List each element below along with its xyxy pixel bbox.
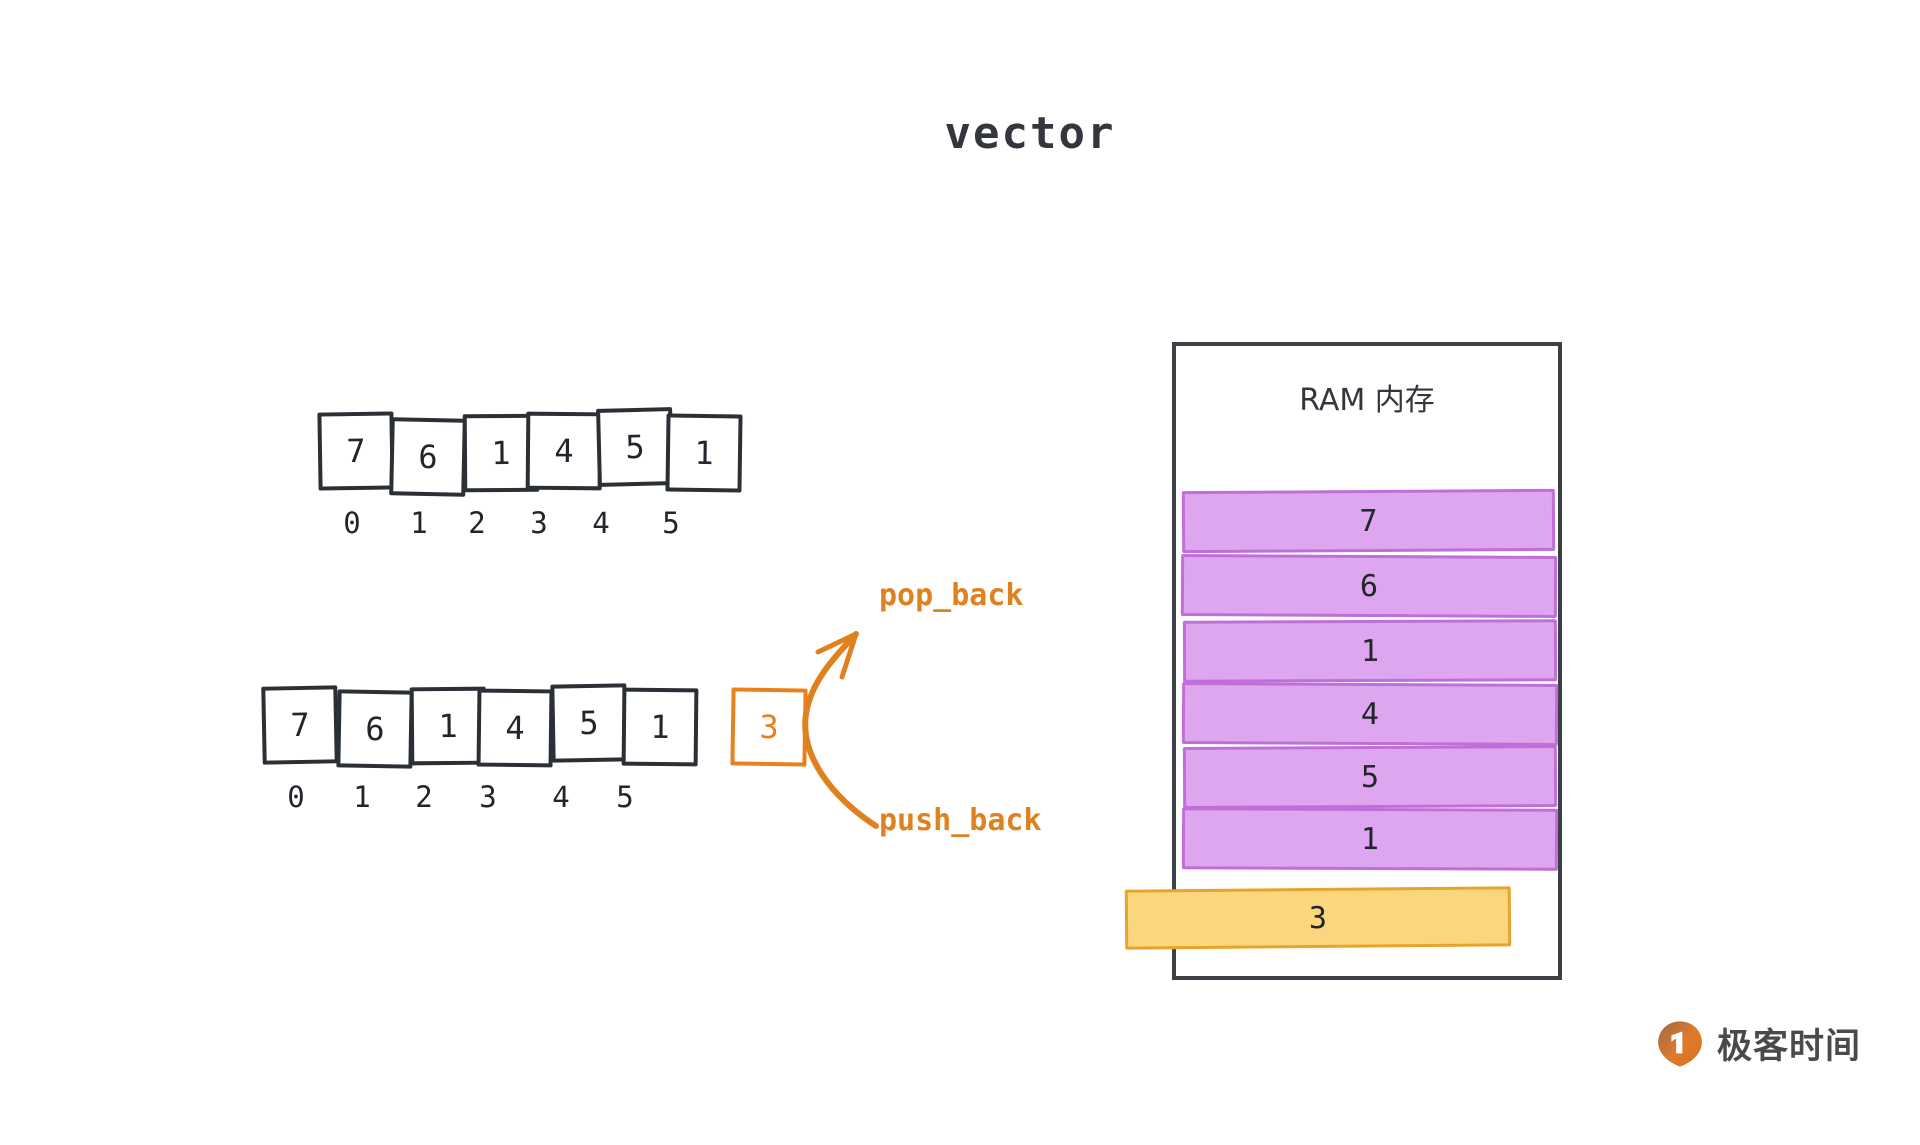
ram-cell: 6	[1181, 554, 1557, 618]
array-index-label: 5	[587, 780, 663, 814]
array-cell: 7	[261, 685, 338, 764]
array-cell: 1	[622, 688, 699, 767]
array-cell: 5	[596, 407, 674, 487]
page-title: vector	[0, 108, 1920, 159]
ram-cell: 5	[1183, 745, 1557, 809]
array-index-label: 4	[563, 506, 639, 540]
array-cell: 6	[389, 417, 467, 497]
ram-panel-title: RAM 内存	[1172, 375, 1562, 419]
array-cell: 1	[410, 687, 487, 766]
array-cell: 1	[665, 413, 742, 492]
watermark: 极客时间	[1655, 1018, 1861, 1069]
watermark-text: 极客时间	[1717, 1018, 1861, 1069]
array-cell: 6	[336, 689, 413, 768]
array-cell: 4	[526, 412, 603, 491]
array-index-label: 3	[450, 780, 526, 814]
push-back-label: push_back	[879, 803, 1042, 838]
array-cell: 5	[550, 683, 627, 762]
ram-cell: 1	[1182, 807, 1558, 871]
array-index-label: 0	[314, 506, 390, 540]
ram-cell: 4	[1182, 682, 1558, 746]
pop-back-label: pop_back	[879, 578, 1024, 613]
array-index-label: 0	[258, 780, 334, 814]
ram-cell-new: 3	[1125, 886, 1512, 949]
array-cell: 4	[477, 689, 554, 768]
ram-cell: 1	[1183, 619, 1557, 683]
array-cell: 7	[317, 411, 394, 490]
ram-cell: 7	[1182, 489, 1555, 553]
diagram-canvas: vector 7 6 1 4 5 1 0 1 2 3 4 5 7 6 1 4 5…	[0, 0, 1920, 1145]
array-cell-pending: 3	[730, 687, 807, 766]
geekbang-logo-icon	[1655, 1019, 1705, 1069]
array-index-label: 5	[633, 506, 709, 540]
push-pop-curved-arrow-icon	[790, 600, 1010, 830]
